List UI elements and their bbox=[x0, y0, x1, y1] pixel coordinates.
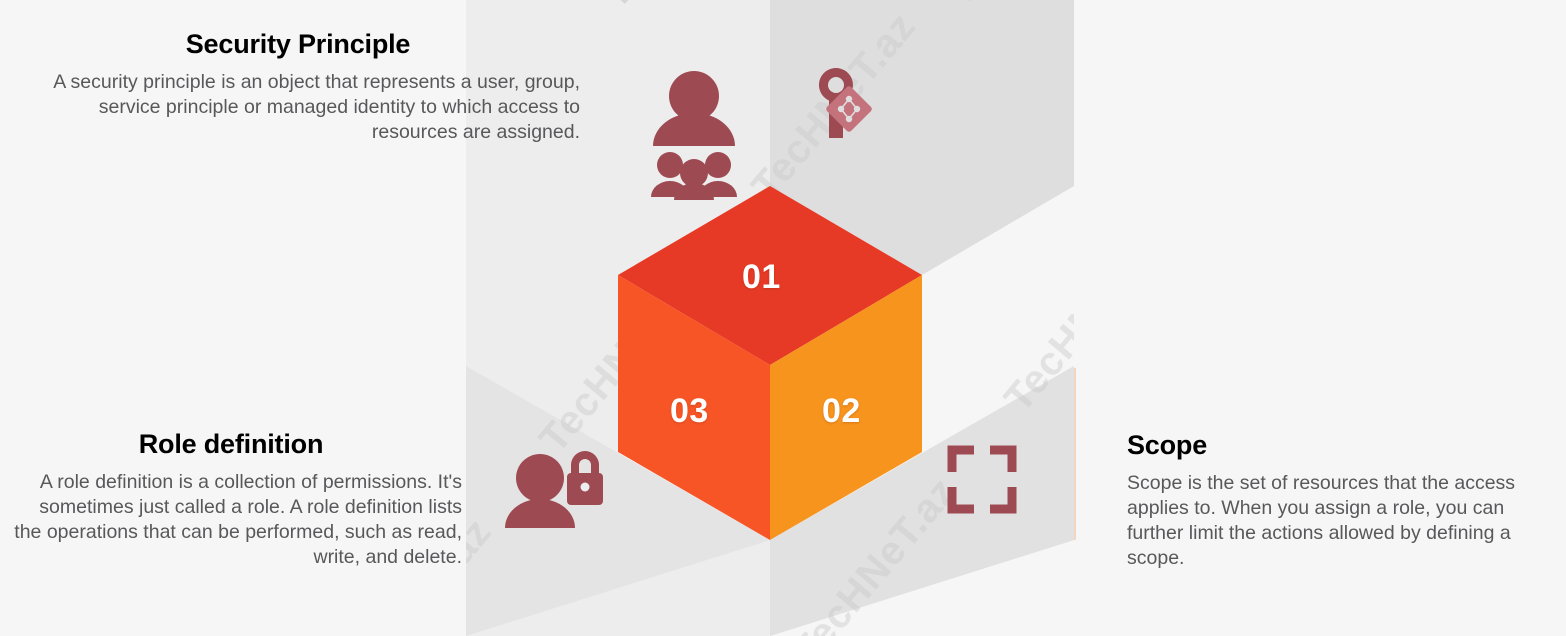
infographic-canvas: TecHNeT.az TecHNeT.az bbox=[0, 0, 1566, 636]
cube-number-02: 02 bbox=[822, 392, 861, 431]
role-definition-title: Role definition bbox=[10, 430, 462, 460]
cube-number-01: 01 bbox=[742, 258, 781, 297]
security-principle-title: Security Principle bbox=[24, 30, 580, 60]
block-security-principle: Security Principle A security principle … bbox=[24, 30, 580, 145]
scope-body: Scope is the set of resources that the a… bbox=[1127, 471, 1537, 571]
role-definition-body: A role definition is a collection of per… bbox=[10, 470, 462, 570]
block-role-definition: Role definition A role definition is a c… bbox=[10, 430, 462, 570]
user-group-icon bbox=[651, 152, 737, 200]
scope-title: Scope bbox=[1127, 431, 1537, 461]
security-principle-body: A security principle is an object that r… bbox=[24, 70, 580, 145]
cube-number-03: 03 bbox=[670, 392, 709, 431]
block-scope: Scope Scope is the set of resources that… bbox=[1127, 431, 1537, 571]
